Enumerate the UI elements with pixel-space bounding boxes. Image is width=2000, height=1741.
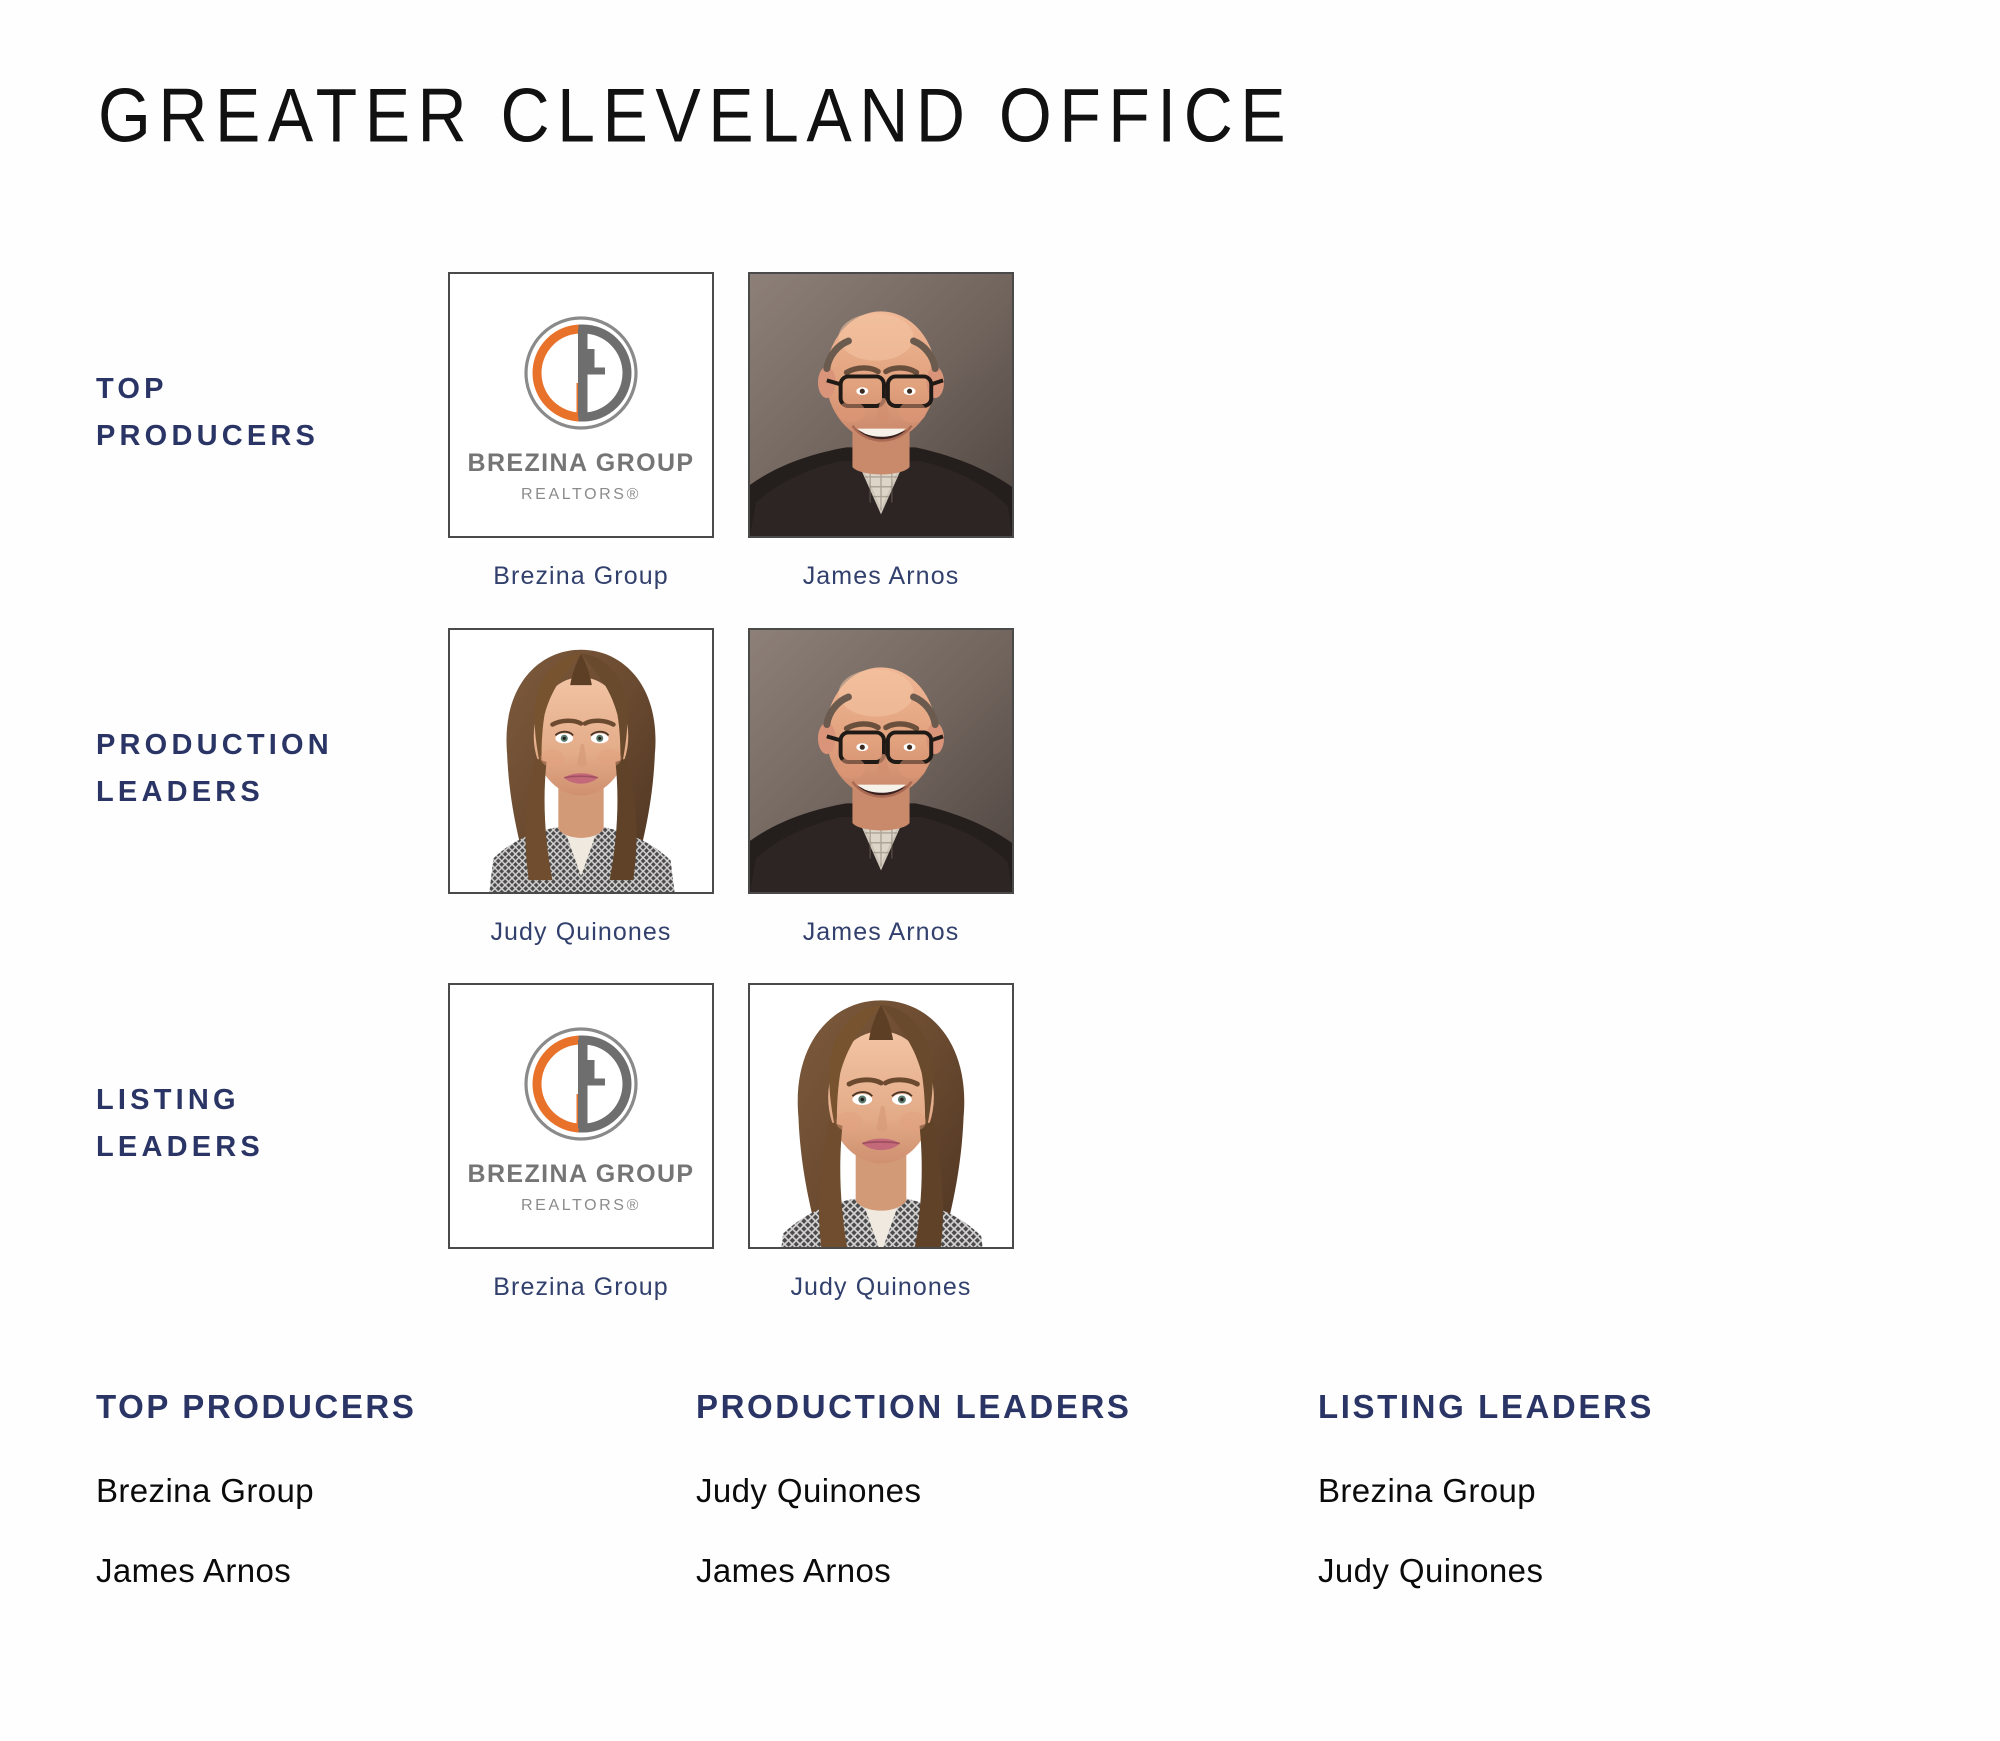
logo-subwordmark: REALTORS® bbox=[521, 486, 641, 504]
award-tiles: BREZINA GROUP REALTORS® Brezina Group bbox=[448, 272, 1014, 591]
brezina-g-d-monogram-icon bbox=[521, 313, 641, 433]
summary-name-list: Brezina Group James Arnos bbox=[96, 1472, 696, 1590]
award-row-listing-leaders: LISTING LEADERS BREZINA GROUP REALTORS® bbox=[0, 983, 2000, 1265]
summary-column-production-leaders: PRODUCTION LEADERS Judy Quinones James A… bbox=[696, 1388, 1296, 1632]
summary-column-listing-leaders: LISTING LEADERS Brezina Group Judy Quino… bbox=[1318, 1388, 1918, 1632]
award-tile-item: Judy Quinones bbox=[748, 983, 1014, 1302]
award-row-top-producers: TOP PRODUCERS BREZINA GROUP REALTORS® bbox=[0, 272, 2000, 554]
award-tile-item: James Arnos bbox=[748, 628, 1014, 947]
summary-column-heading: PRODUCTION LEADERS bbox=[696, 1388, 1296, 1426]
award-tile-caption: Brezina Group bbox=[493, 1273, 669, 1302]
award-tiles: BREZINA GROUP REALTORS® Brezina Group bbox=[448, 983, 1014, 1302]
award-row-label-line2: LEADERS bbox=[96, 1124, 426, 1171]
headshot-tile-james-arnos bbox=[748, 628, 1014, 894]
award-row-label-line1: LISTING bbox=[96, 1077, 426, 1124]
award-tile-item: BREZINA GROUP REALTORS® Brezina Group bbox=[448, 983, 714, 1302]
headshot-judy-quinones bbox=[450, 630, 712, 892]
logo-subwordmark: REALTORS® bbox=[521, 1197, 641, 1215]
award-row-label: LISTING LEADERS bbox=[96, 983, 426, 1265]
award-row-label-line2: PRODUCERS bbox=[96, 413, 426, 460]
summary-list-item: Judy Quinones bbox=[1318, 1552, 1918, 1590]
award-tiles: Judy Quinones bbox=[448, 628, 1014, 947]
summary-list-item: Brezina Group bbox=[1318, 1472, 1918, 1510]
award-tile-item: Judy Quinones bbox=[448, 628, 714, 947]
award-tile-caption: Brezina Group bbox=[493, 562, 669, 591]
brezina-group-logo-tile: BREZINA GROUP REALTORS® bbox=[448, 272, 714, 538]
award-tile-item: James Arnos bbox=[748, 272, 1014, 591]
summary-name-list: Judy Quinones James Arnos bbox=[696, 1472, 1296, 1590]
page-title: GREATER CLEVELAND OFFICE bbox=[98, 72, 1293, 159]
summary-list-item: James Arnos bbox=[96, 1552, 696, 1590]
brezina-g-d-monogram-icon bbox=[521, 1024, 641, 1144]
award-tile-caption: Judy Quinones bbox=[790, 1273, 971, 1302]
award-row-label: TOP PRODUCERS bbox=[96, 272, 426, 554]
award-tile-item: BREZINA GROUP REALTORS® Brezina Group bbox=[448, 272, 714, 591]
award-row-label: PRODUCTION LEADERS bbox=[96, 628, 426, 910]
brezina-group-logo-tile: BREZINA GROUP REALTORS® bbox=[448, 983, 714, 1249]
headshot-tile-judy-quinones bbox=[448, 628, 714, 894]
headshot-tile-judy-quinones bbox=[748, 983, 1014, 1249]
office-awards-page: GREATER CLEVELAND OFFICE TOP PRODUCERS B… bbox=[0, 0, 2000, 1741]
summary-column-heading: TOP PRODUCERS bbox=[96, 1388, 696, 1426]
headshot-james-arnos bbox=[750, 630, 1012, 892]
summary-list-item: James Arnos bbox=[696, 1552, 1296, 1590]
award-row-production-leaders: PRODUCTION LEADERS bbox=[0, 628, 2000, 910]
award-tile-caption: James Arnos bbox=[803, 562, 960, 591]
logo-wordmark: BREZINA GROUP bbox=[467, 449, 694, 478]
summary-column-heading: LISTING LEADERS bbox=[1318, 1388, 1918, 1426]
headshot-judy-quinones bbox=[750, 985, 1012, 1247]
summary-section: TOP PRODUCERS Brezina Group James Arnos … bbox=[0, 1388, 2000, 1632]
award-row-label-line1: PRODUCTION bbox=[96, 722, 426, 769]
headshot-james-arnos bbox=[750, 274, 1012, 536]
logo-wordmark: BREZINA GROUP bbox=[467, 1160, 694, 1189]
summary-list-item: Judy Quinones bbox=[696, 1472, 1296, 1510]
award-row-label-line1: TOP bbox=[96, 366, 426, 413]
award-row-label-line2: LEADERS bbox=[96, 769, 426, 816]
summary-column-top-producers: TOP PRODUCERS Brezina Group James Arnos bbox=[96, 1388, 696, 1632]
summary-list-item: Brezina Group bbox=[96, 1472, 696, 1510]
headshot-tile-james-arnos bbox=[748, 272, 1014, 538]
summary-name-list: Brezina Group Judy Quinones bbox=[1318, 1472, 1918, 1590]
award-tile-caption: James Arnos bbox=[803, 918, 960, 947]
award-tile-caption: Judy Quinones bbox=[490, 918, 671, 947]
